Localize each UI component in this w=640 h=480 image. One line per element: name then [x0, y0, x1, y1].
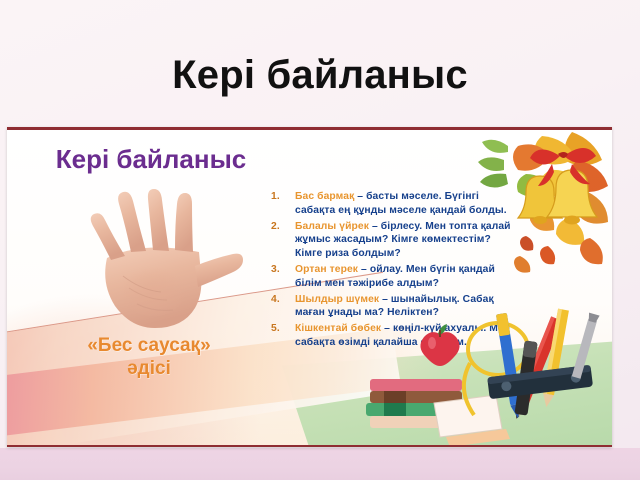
- feedback-steps-list: 1.Бас бармақ – басты мәселе. Бүгінгі саб…: [265, 190, 513, 352]
- list-item-number: 2.: [271, 220, 280, 234]
- method-caption-line2: әдісі: [23, 358, 275, 381]
- list-item: 1.Бас бармақ – басты мәселе. Бүгінгі саб…: [265, 190, 513, 218]
- list-item-term: Ортан терек: [295, 264, 358, 275]
- page-title: Кері байланыс: [0, 55, 640, 95]
- list-item-term: Бас бармақ: [295, 191, 354, 202]
- list-item-term: Шылдыр шүмек: [295, 294, 379, 305]
- list-item-term: Балалы үйрек: [295, 221, 369, 232]
- list-item: 5.Кішкентай бөбек – көңіл-күй ахуалы. Ме…: [265, 322, 513, 350]
- list-item-number: 5.: [271, 322, 280, 336]
- list-item: 4.Шылдыр шүмек – шынайылық. Сабақ маған …: [265, 293, 513, 321]
- method-caption-line1: «Бес саусақ»: [87, 335, 210, 356]
- list-item-number: 1.: [271, 190, 280, 204]
- list-item-number: 4.: [271, 293, 280, 307]
- slide-heading: Кері байланыс: [31, 144, 271, 175]
- list-item: 2.Балалы үйрек – бірлесу. Мен топта қала…: [265, 220, 513, 261]
- bottom-band: [0, 448, 640, 480]
- method-caption: «Бес саусақ» әдісі: [23, 335, 275, 381]
- slide-image: Кері байланыс: [7, 127, 612, 447]
- list-item-term: Кішкентай бөбек: [295, 323, 381, 334]
- open-palm-icon: [49, 188, 245, 336]
- list-item: 3.Ортан терек – ойлау. Мен бүгін қандай …: [265, 263, 513, 291]
- list-item-number: 3.: [271, 263, 280, 277]
- slide-page: Кері байланыс Кері байланыс: [0, 0, 640, 480]
